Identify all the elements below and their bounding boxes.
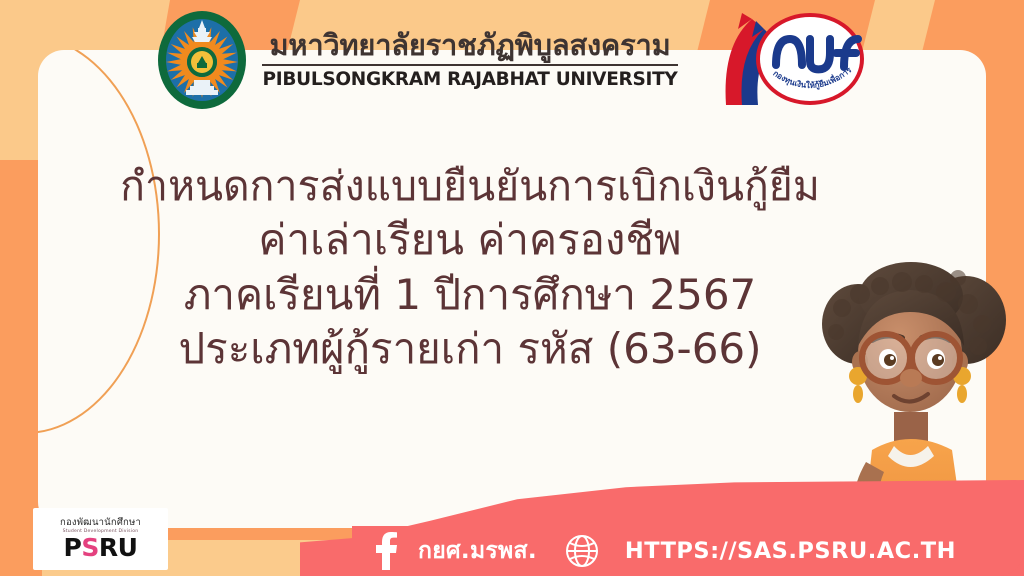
university-name-block: มหาวิทยาลัยราชภัฏพิบูลสงคราม PIBULSONGKR…: [262, 30, 677, 90]
psru-letter-s: S: [81, 533, 99, 562]
globe-icon[interactable]: [565, 534, 599, 568]
headline-line-2: ค่าเล่าเรียน ค่าครองชีพ: [60, 213, 880, 268]
poster-header: มหาวิทยาลัยราชภัฏพิบูลสงคราม PIBULSONGKR…: [0, 8, 1024, 112]
footer-contact-bar: กยศ.มรพส. HTTPS://SAS.PSRU.AC.TH: [352, 526, 1024, 576]
psru-wordmark: PSRU: [64, 535, 138, 560]
name-divider: [262, 64, 677, 66]
headline-line-1: กำหนดการส่งแบบยืนยันการเบิกเงินกู้ยืม: [60, 160, 880, 213]
poster-canvas: กำหนดการส่งแบบยืนยันการเบิกเงินกู้ยืม ค่…: [0, 0, 1024, 576]
psru-university-seal-icon: [156, 10, 248, 110]
headline-line-4: ประเภทผู้กู้รายเก่า รหัส (63-66): [60, 322, 880, 377]
psru-letters-ru: RU: [99, 533, 138, 562]
university-name-th: มหาวิทยาลัยราชภัฏพิบูลสงคราม: [269, 30, 670, 62]
psru-letter-p: P: [64, 533, 82, 562]
university-name-en: PIBULSONGKRAM RAJABHAT UNIVERSITY: [262, 69, 677, 90]
student-loan-fund-logo-icon: กองทุนเงินให้กู้ยืมเพื่อการศึกษา: [718, 9, 868, 111]
psru-logo-th: กองพัฒนานักศึกษา: [60, 518, 141, 528]
headline-line-3: ภาคเรียนที่ 1 ปีการศึกษา 2567: [60, 268, 880, 323]
facebook-icon[interactable]: [374, 532, 400, 570]
website-url-label[interactable]: HTTPS://SAS.PSRU.AC.TH: [625, 538, 956, 564]
facebook-page-label[interactable]: กยศ.มรพส.: [418, 533, 537, 569]
psru-student-development-logo: กองพัฒนานักศึกษา Student Development Div…: [33, 508, 168, 570]
headline-block: กำหนดการส่งแบบยืนยันการเบิกเงินกู้ยืม ค่…: [60, 160, 880, 377]
